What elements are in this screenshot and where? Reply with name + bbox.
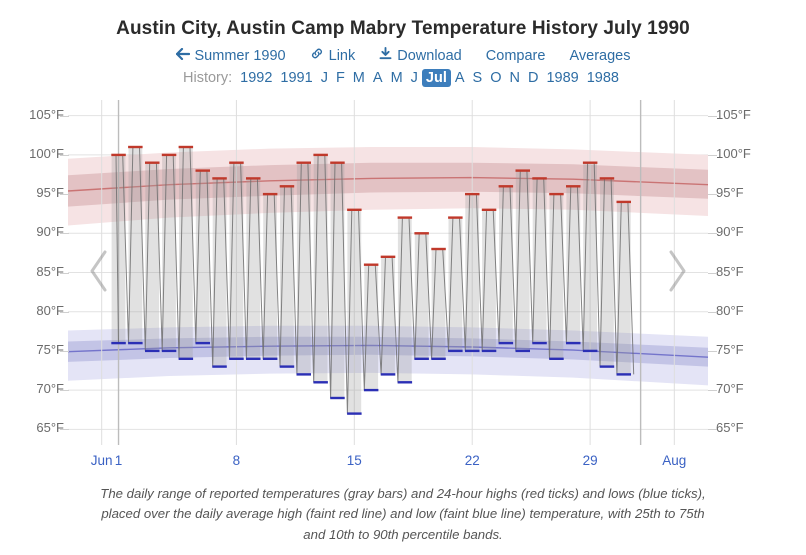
y-tick-mark bbox=[708, 351, 717, 352]
chart-svg bbox=[68, 100, 708, 445]
y-tick-mark bbox=[60, 233, 69, 234]
download-icon bbox=[379, 47, 392, 64]
history-item-1992[interactable]: 1992 bbox=[236, 69, 276, 87]
y-tick-label-left: 105°F bbox=[29, 107, 64, 122]
history-item-d[interactable]: D bbox=[524, 69, 542, 87]
y-tick-mark bbox=[60, 351, 69, 352]
temperature-chart: 65°F65°F70°F70°F75°F75°F80°F80°F85°F85°F… bbox=[0, 92, 806, 467]
caption-line-1: The daily range of reported temperatures… bbox=[100, 486, 705, 501]
x-tick-label: 15 bbox=[347, 453, 362, 468]
next-period-button[interactable] bbox=[664, 248, 690, 294]
y-tick-mark bbox=[708, 155, 717, 156]
history-item-a[interactable]: A bbox=[451, 69, 469, 87]
x-tick-label: 29 bbox=[583, 453, 598, 468]
history-item-n[interactable]: N bbox=[505, 69, 523, 87]
x-tick-label: 1 bbox=[115, 453, 123, 468]
history-item-m[interactable]: M bbox=[349, 69, 369, 87]
nav-back-summer-label: Summer 1990 bbox=[195, 48, 286, 64]
y-tick-label-left: 85°F bbox=[36, 264, 64, 279]
history-label: History: bbox=[183, 70, 232, 86]
nav-download-label: Download bbox=[397, 48, 462, 64]
y-tick-mark bbox=[60, 116, 69, 117]
y-tick-label-left: 95°F bbox=[36, 185, 64, 200]
y-tick-label-left: 65°F bbox=[36, 420, 64, 435]
y-tick-label-right: 65°F bbox=[716, 420, 744, 435]
y-tick-label-left: 70°F bbox=[36, 381, 64, 396]
nav-back-summer[interactable]: Summer 1990 bbox=[176, 48, 286, 64]
history-row: History:19921991JFMAMJJulASOND19891988 bbox=[0, 69, 806, 87]
y-tick-label-right: 70°F bbox=[716, 381, 744, 396]
y-tick-mark bbox=[708, 312, 717, 313]
x-tick-label: 22 bbox=[465, 453, 480, 468]
y-tick-mark bbox=[60, 273, 69, 274]
arrow-left-icon bbox=[176, 48, 190, 64]
nav-download[interactable]: Download bbox=[379, 47, 462, 64]
history-item-f[interactable]: F bbox=[332, 69, 349, 87]
y-tick-label-left: 75°F bbox=[36, 342, 64, 357]
x-tick-label: Aug bbox=[662, 453, 686, 468]
history-item-1989[interactable]: 1989 bbox=[542, 69, 582, 87]
history-item-1988[interactable]: 1988 bbox=[583, 69, 623, 87]
y-tick-mark bbox=[60, 194, 69, 195]
y-tick-label-right: 95°F bbox=[716, 185, 744, 200]
y-tick-label-left: 100°F bbox=[29, 146, 64, 161]
prev-period-button[interactable] bbox=[86, 248, 112, 294]
y-tick-label-right: 80°F bbox=[716, 303, 744, 318]
page-title: Austin City, Austin Camp Mabry Temperatu… bbox=[0, 0, 806, 40]
y-tick-label-right: 105°F bbox=[716, 107, 751, 122]
history-item-j[interactable]: J bbox=[407, 69, 422, 87]
y-tick-mark bbox=[708, 194, 717, 195]
chart-plot-area bbox=[68, 100, 708, 445]
y-tick-mark bbox=[708, 390, 717, 391]
nav-averages[interactable]: Averages bbox=[569, 48, 630, 64]
history-item-a[interactable]: A bbox=[369, 69, 387, 87]
y-tick-label-right: 90°F bbox=[716, 224, 744, 239]
y-tick-label-right: 100°F bbox=[716, 146, 751, 161]
y-tick-mark bbox=[60, 312, 69, 313]
y-tick-label-left: 90°F bbox=[36, 224, 64, 239]
nav-links: Summer 1990 Link Download Compare Averag… bbox=[0, 47, 806, 64]
history-item-1991[interactable]: 1991 bbox=[276, 69, 316, 87]
y-tick-mark bbox=[708, 273, 717, 274]
nav-compare[interactable]: Compare bbox=[486, 48, 546, 64]
history-item-o[interactable]: O bbox=[486, 69, 505, 87]
nav-link[interactable]: Link bbox=[310, 47, 356, 64]
y-tick-mark bbox=[708, 429, 717, 430]
y-tick-mark bbox=[60, 155, 69, 156]
y-tick-mark bbox=[708, 233, 717, 234]
y-tick-mark bbox=[60, 429, 69, 430]
y-tick-label-left: 80°F bbox=[36, 303, 64, 318]
history-item-s[interactable]: S bbox=[469, 69, 487, 87]
y-tick-label-right: 75°F bbox=[716, 342, 744, 357]
x-tick-label: Jun bbox=[91, 453, 113, 468]
y-tick-label-right: 85°F bbox=[716, 264, 744, 279]
history-item-m[interactable]: M bbox=[387, 69, 407, 87]
x-tick-label: 8 bbox=[233, 453, 241, 468]
link-icon bbox=[310, 47, 324, 64]
history-item-j[interactable]: J bbox=[317, 69, 332, 87]
caption-line-2: placed over the daily average high (fain… bbox=[101, 506, 704, 521]
y-tick-mark bbox=[60, 390, 69, 391]
temperature-history-page: Austin City, Austin Camp Mabry Temperatu… bbox=[0, 0, 806, 555]
caption-line-3: and 10th to 90th percentile bands. bbox=[303, 527, 502, 542]
chart-caption: The daily range of reported temperatures… bbox=[0, 484, 806, 545]
nav-link-label: Link bbox=[329, 48, 356, 64]
y-tick-mark bbox=[708, 116, 717, 117]
history-item-jul[interactable]: Jul bbox=[422, 69, 451, 87]
